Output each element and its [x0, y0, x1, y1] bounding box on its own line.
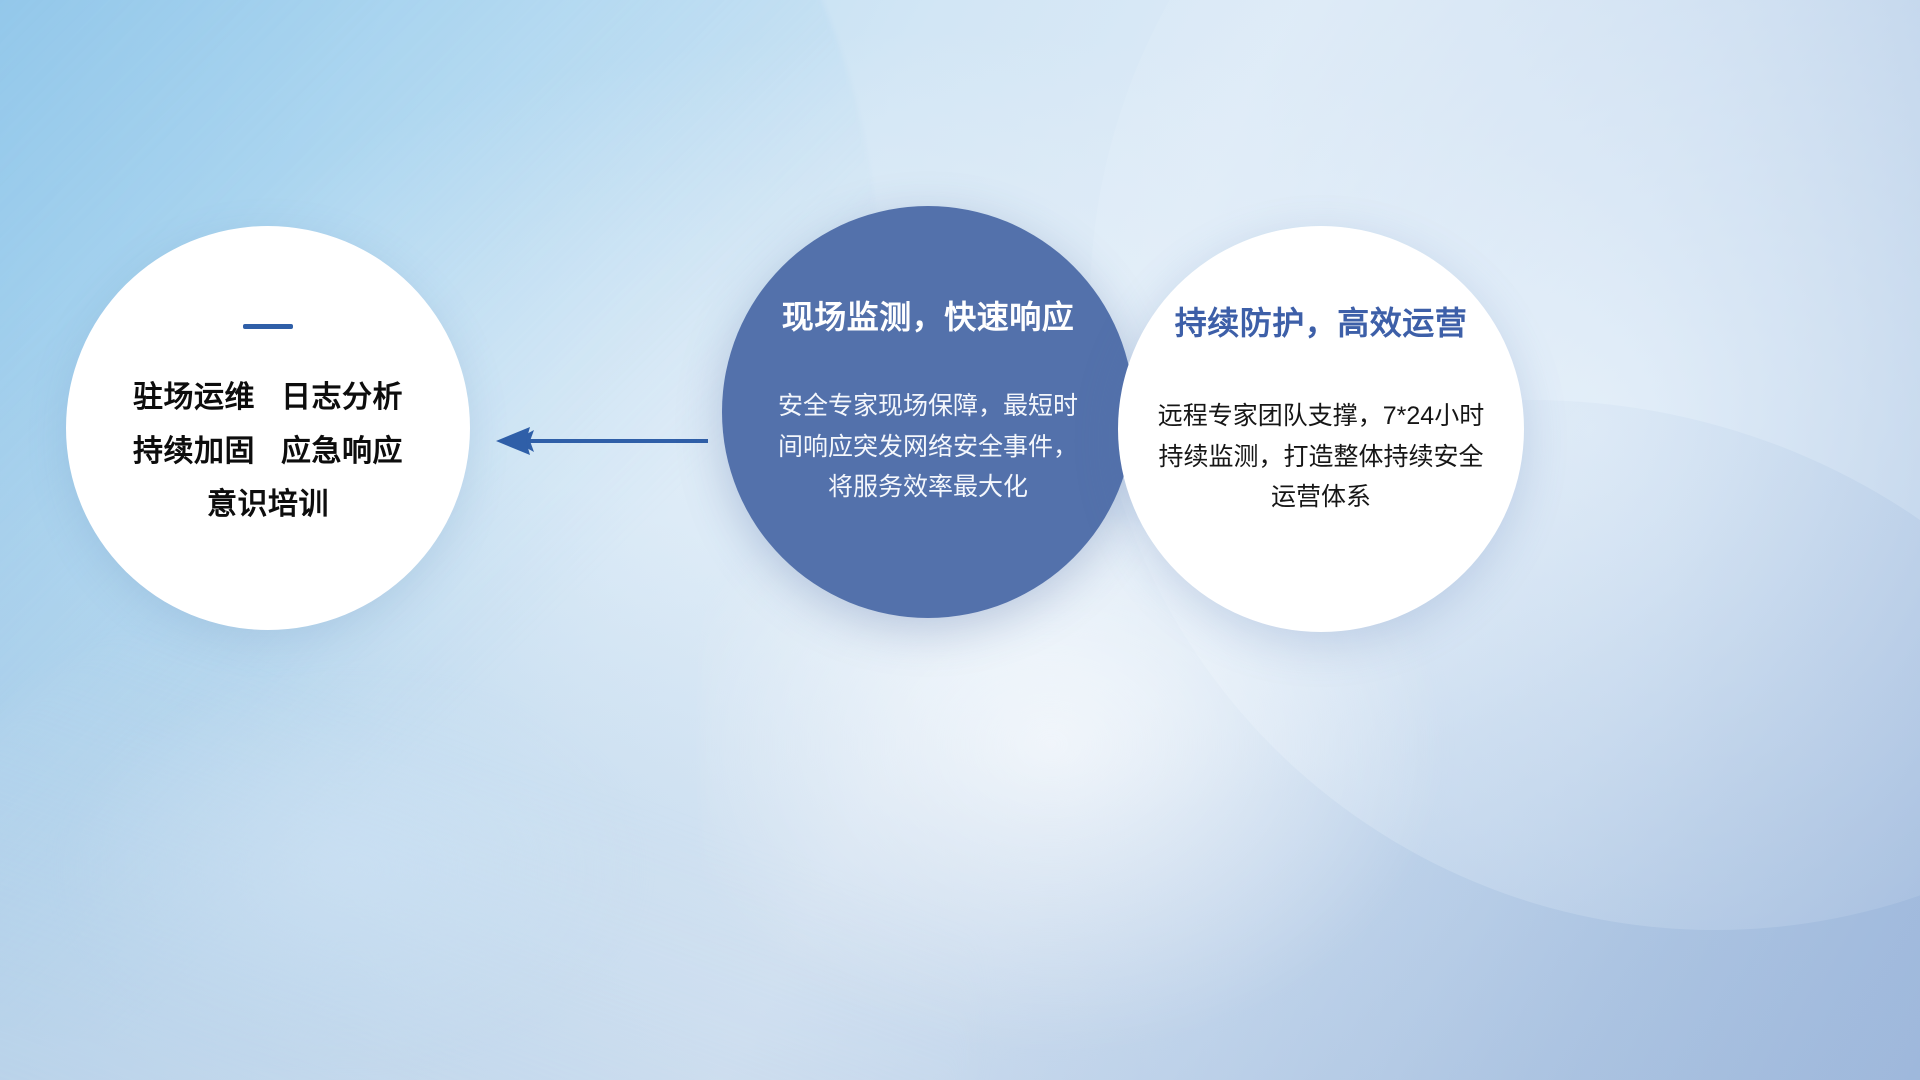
service-keyword-list: 驻场运维日志分析 持续加固应急响应 意识培训: [133, 371, 403, 531]
left-service-circle: 驻场运维日志分析 持续加固应急响应 意识培训: [66, 226, 470, 630]
right-circle-content: 持续防护，高效运营 远程专家团队支撑，7*24小时持续监测，打造整体持续安全运营…: [1118, 226, 1524, 632]
right-circle-body: 远程专家团队支撑，7*24小时持续监测，打造整体持续安全运营体系: [1153, 396, 1489, 518]
service-keyword: 持续加固: [133, 435, 255, 468]
arrow-left-icon: [490, 418, 710, 464]
service-keyword: 驻场运维: [133, 381, 255, 414]
slide-canvas: 驻场运维日志分析 持续加固应急响应 意识培训 现场监测，快速响应 安全专家现场保…: [0, 0, 1920, 1080]
service-keyword: 日志分析: [281, 381, 403, 414]
mid-circle-body: 安全专家现场保障，最短时间响应突发网络安全事件，将服务效率最大化: [778, 386, 1078, 508]
mid-onsite-circle: 现场监测，快速响应 安全专家现场保障，最短时间响应突发网络安全事件，将服务效率最…: [722, 206, 1134, 618]
service-keyword: 应急响应: [281, 435, 403, 468]
mid-circle-title: 现场监测，快速响应: [782, 292, 1075, 338]
mid-circle-content: 现场监测，快速响应 安全专家现场保障，最短时间响应突发网络安全事件，将服务效率最…: [722, 206, 1134, 618]
right-operations-circle: 持续防护，高效运营 远程专家团队支撑，7*24小时持续监测，打造整体持续安全运营…: [1118, 226, 1524, 632]
service-keyword-row: 意识培训: [133, 478, 403, 531]
divider-dash: [243, 324, 293, 329]
service-keyword-row: 持续加固应急响应: [133, 425, 403, 478]
right-circle-title: 持续防护，高效运营: [1175, 298, 1468, 344]
service-keyword-row: 驻场运维日志分析: [133, 371, 403, 424]
service-keyword: 意识培训: [207, 488, 329, 521]
